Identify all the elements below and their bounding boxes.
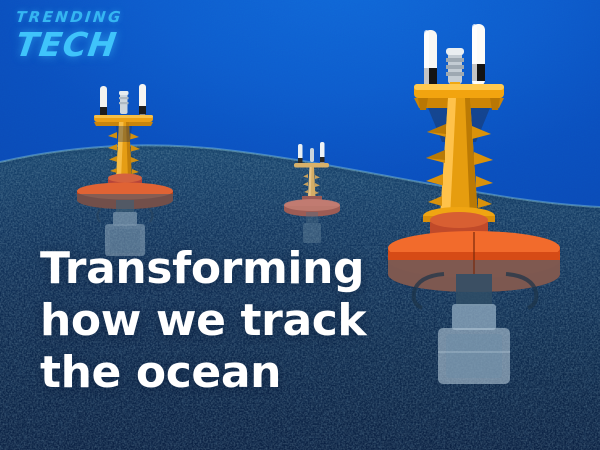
brand-logo[interactable]: TRENDING TECH (16, 10, 123, 61)
ocean-monitoring-buoy-right (398, 22, 598, 382)
antenna-group-center (298, 142, 325, 164)
headline-line-3: the ocean (40, 347, 366, 399)
antenna-group-right (424, 24, 485, 92)
brand-logo-line2: TECH (14, 28, 125, 61)
ocean-monitoring-buoy-left (72, 82, 182, 262)
headline: Transforming how we track the ocean (40, 243, 366, 399)
headline-line-2: how we track (40, 295, 366, 347)
promo-graphic: TRENDING TECH Transforming how we track … (0, 0, 600, 450)
headline-line-1: Transforming (40, 243, 366, 295)
ocean-monitoring-buoy-center (276, 138, 348, 248)
brand-logo-line1: TRENDING (15, 10, 123, 25)
antenna-group-left (100, 84, 146, 116)
